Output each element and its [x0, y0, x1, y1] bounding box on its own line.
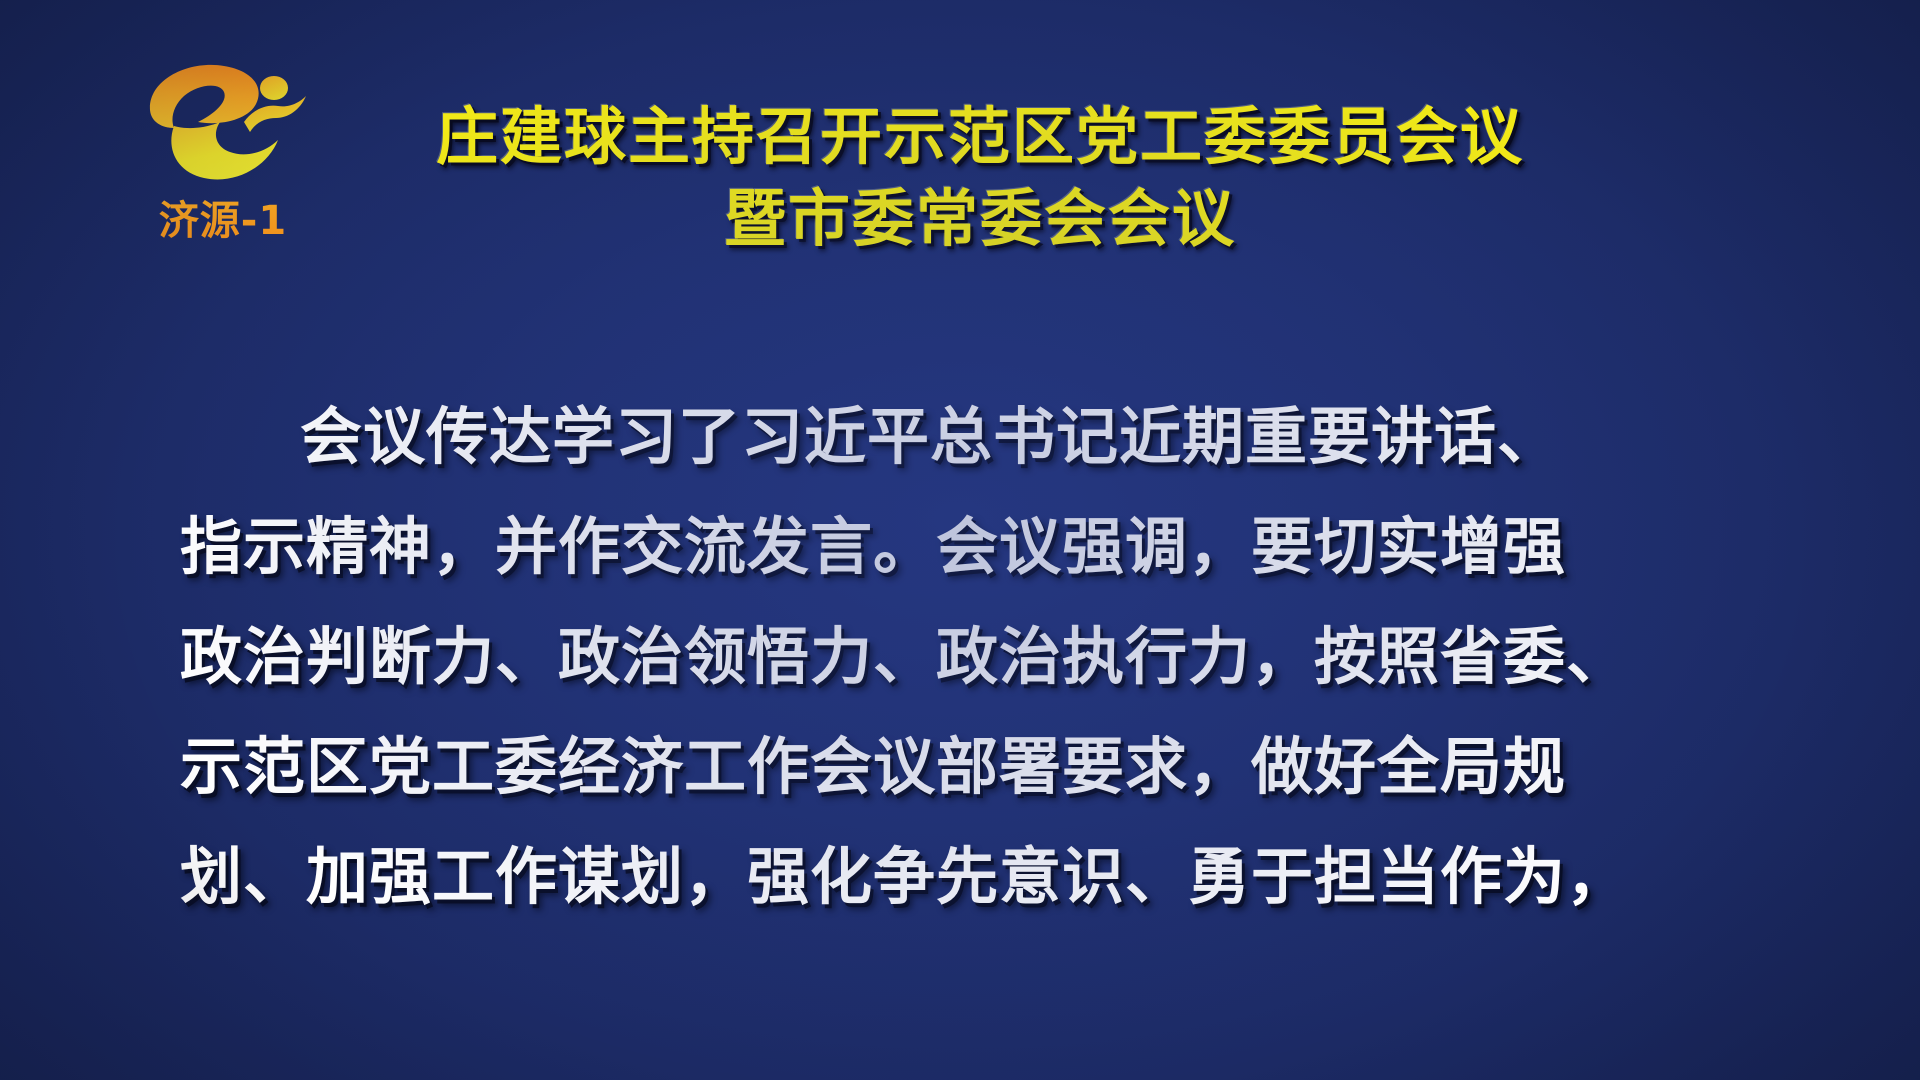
jiyuan-tv-butterfly-logo-icon: [128, 48, 318, 198]
body-line: 指示精神，并作交流发言。会议强调，要切实增强: [180, 492, 1760, 602]
news-body-paragraph: 会议传达学习了习近平总书记近期重要讲话、 指示精神，并作交流发言。会议强调，要切…: [180, 382, 1760, 932]
channel-logo: 济源-1: [128, 48, 318, 253]
headline-line-1: 庄建球主持召开示范区党工委委员会议: [330, 96, 1630, 178]
body-line: 政治判断力、政治领悟力、政治执行力，按照省委、: [180, 602, 1760, 712]
body-line: 划、加强工作谋划，强化争先意识、勇于担当作为，: [180, 822, 1760, 932]
broadcast-news-graphic: 济源-1 庄建球主持召开示范区党工委委员会议 暨市委常委会会议 会议传达学习了习…: [0, 0, 1920, 1080]
body-line: 会议传达学习了习近平总书记近期重要讲话、: [180, 382, 1760, 492]
channel-name-label: 济源-1: [128, 198, 318, 244]
headline-line-2: 暨市委常委会会议: [330, 178, 1630, 260]
headline-title: 庄建球主持召开示范区党工委委员会议 暨市委常委会会议: [330, 96, 1630, 260]
body-line: 示范区党工委经济工作会议部署要求，做好全局规: [180, 712, 1760, 822]
